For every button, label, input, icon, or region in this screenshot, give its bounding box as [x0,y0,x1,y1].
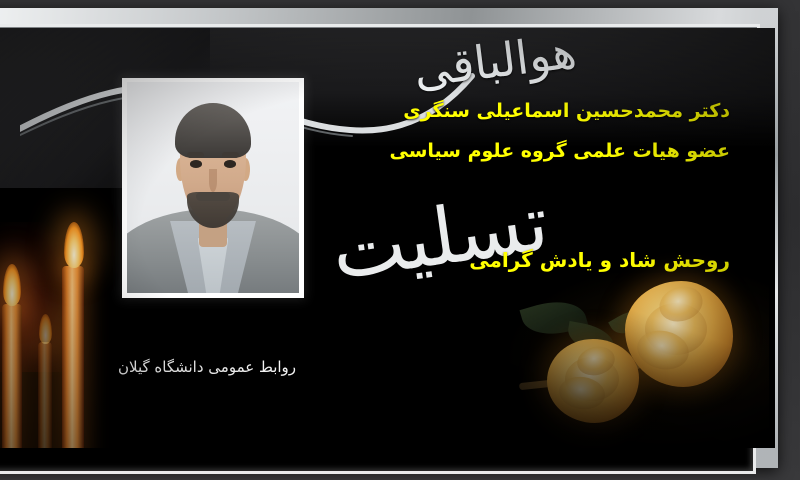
rose-petal [574,343,618,379]
rose-shadow-overlay [509,273,769,448]
stem-icon [519,371,637,390]
rose-petal [557,374,607,412]
flame-icon [39,314,52,344]
wish-line-text: روحش شاد و یادش گرامی [469,248,730,272]
condolence-poster: هوالباقی تسلیت [0,0,800,480]
leaf-icon [608,302,654,341]
deceased-role-text: عضو هیات علمی گروه علوم سیاسی [390,140,731,162]
portrait-photo [122,78,304,298]
rose-icon [547,339,639,423]
flame-icon [64,222,84,268]
deceased-name-text: دکتر محمدحسین اسماعیلی سنگری [403,100,730,122]
leaf-icon [520,293,589,343]
rose-glow [509,273,769,448]
rose-petal [634,326,693,374]
candles-decoration [0,232,134,448]
poster-canvas: هوالباقی تسلیت [0,28,775,448]
leaf-icon [565,321,617,355]
flame-icon [3,264,21,306]
roses-decoration [509,273,769,448]
rose-petal [565,357,619,401]
candle-icon [62,266,84,448]
rose-petal [655,281,707,327]
center-calligraphy-taslit: تسلیت [293,159,587,317]
issuer-text: روابط عمومی دانشگاه گیلان [118,358,296,376]
candle-red-glow [0,222,80,372]
candle-icon [38,342,52,448]
rose-icon [625,281,733,387]
stem-icon [607,343,687,380]
rose-petal [645,303,707,355]
portrait-image [127,82,299,293]
candle-icon [2,304,22,448]
